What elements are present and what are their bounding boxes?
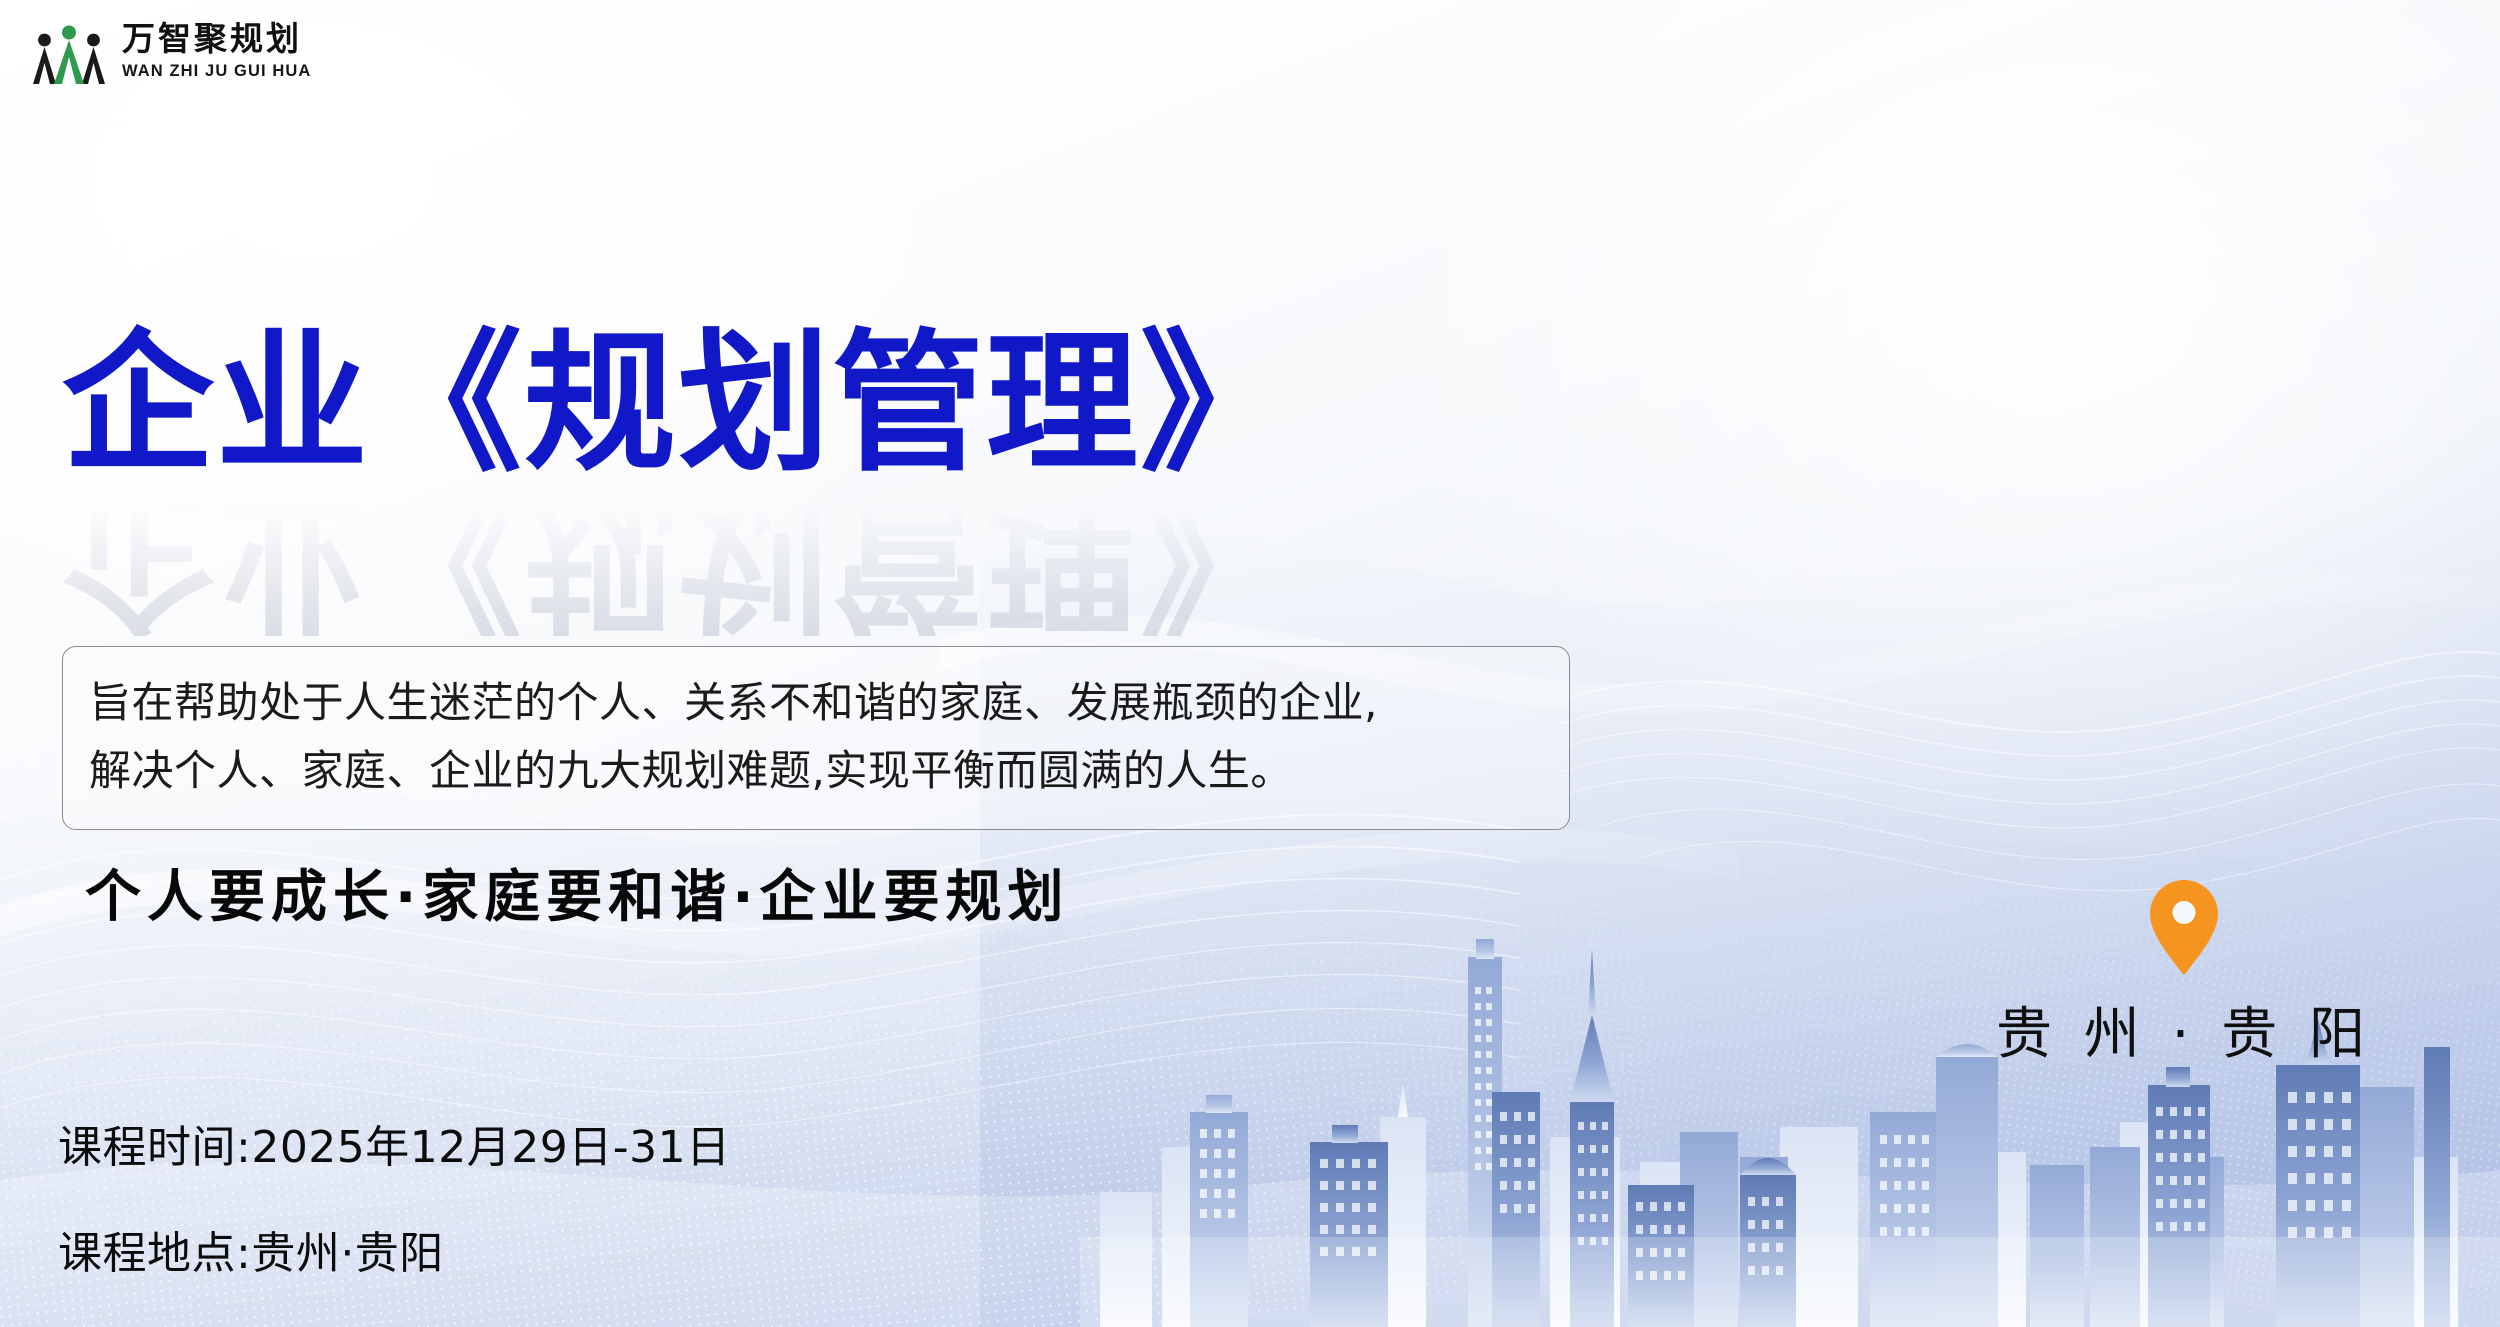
brand-name-cn: 万智聚规划: [122, 24, 311, 57]
course-place: 课程地点:贵州·贵阳: [58, 1217, 731, 1281]
description-box: 旨在帮助处于人生迷茫的个人、关系不和谐的家庭、发展瓶颈的企业, 解决个人、家庭、…: [62, 646, 1570, 830]
brand-logo-text: 万智聚规划 WAN ZHI JU GUI HUA: [122, 24, 311, 80]
location-block: 贵 州 · 贵 阳: [1996, 880, 2372, 1070]
brand-name-en: WAN ZHI JU GUI HUA: [122, 63, 311, 80]
slogan-text: 个人要成长·家庭要和谐·企业要规划: [85, 852, 1070, 933]
poster-canvas: 万智聚规划 WAN ZHI JU GUI HUA 企业《规划管理》 企业《规划管…: [0, 0, 2500, 1327]
three-people-logo-icon: [30, 16, 108, 88]
course-time: 课程时间:2025年12月29日-31日: [58, 1111, 731, 1175]
description-line-1: 旨在帮助处于人生迷茫的个人、关系不和谐的家庭、发展瓶颈的企业,: [89, 669, 1543, 737]
hero-title-group: 企业《规划管理》 企业《规划管理》: [62, 328, 1294, 636]
course-info-block: 课程时间:2025年12月29日-31日 课程地点:贵州·贵阳: [58, 1111, 731, 1281]
page-title-reflection: 企业《规划管理》: [62, 484, 1294, 636]
location-name: 贵 州 · 贵 阳: [1996, 989, 2372, 1070]
map-pin-icon: [2150, 880, 2218, 975]
description-line-2: 解决个人、家庭、企业的九大规划难题,实现平衡而圆满的人生。: [89, 737, 1543, 805]
brand-logo[interactable]: 万智聚规划 WAN ZHI JU GUI HUA: [30, 16, 311, 88]
page-title: 企业《规划管理》: [62, 328, 1294, 480]
